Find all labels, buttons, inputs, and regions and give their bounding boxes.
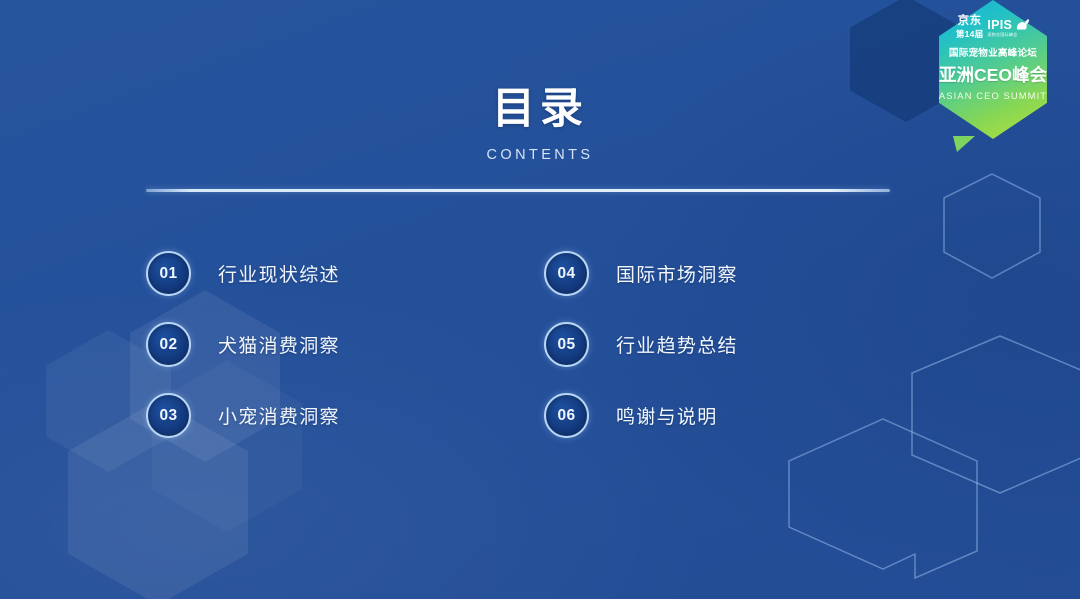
toc-item-02[interactable]: 02 犬猫消费洞察 — [146, 309, 506, 380]
toc-number-badge: 06 — [544, 393, 589, 438]
toc-number-badge: 05 — [544, 322, 589, 367]
toc-label: 鸣谢与说明 — [616, 402, 718, 429]
toc-item-01[interactable]: 01 行业现状综述 — [146, 238, 506, 309]
toc-number: 01 — [159, 265, 177, 283]
logo-summit-name-en: ASIAN CEO SUMMIT — [939, 90, 1047, 101]
slide-canvas: 目录 CONTENTS 01 行业现状综述 04 国际市场洞察 02 犬猫消费洞… — [0, 0, 1080, 599]
toc-number-badge: 03 — [146, 393, 191, 438]
decorative-hexagon-outline-icon — [932, 168, 1052, 288]
slide-header: 目录 CONTENTS — [0, 86, 1080, 163]
toc-item-04[interactable]: 04 国际市场洞察 — [530, 238, 890, 309]
toc-number-badge: 04 — [544, 251, 589, 296]
toc-label: 犬猫消费洞察 — [218, 331, 340, 358]
toc-label: 国际市场洞察 — [616, 260, 738, 287]
logo-edition: 第14届 — [956, 30, 984, 39]
toc-item-06[interactable]: 06 鸣谢与说明 — [530, 380, 890, 451]
toc-number-badge: 01 — [146, 251, 191, 296]
pet-silhouette-icon — [1014, 16, 1030, 31]
toc-number: 06 — [557, 407, 575, 425]
logo-content: 京东 第14届 IPIS 宠物业国际峰会 国际宠物业高峰论坛 亚洲CEO峰会 — [939, 0, 1047, 139]
page-subtitle: CONTENTS — [0, 147, 1080, 163]
toc-label: 小宠消费洞察 — [218, 402, 340, 429]
toc-label: 行业趋势总结 — [616, 331, 738, 358]
logo-forum-name: 国际宠物业高峰论坛 — [949, 45, 1037, 59]
logo-org-tagline: 宠物业国际峰会 — [987, 33, 1017, 37]
toc-number: 05 — [557, 336, 575, 354]
toc-number: 02 — [159, 336, 177, 354]
logo-brand-block: 京东 第14届 — [956, 16, 984, 38]
toc-item-03[interactable]: 03 小宠消费洞察 — [146, 380, 506, 451]
logo-brand: 京东 — [958, 16, 982, 28]
page-title: 目录 — [0, 86, 1080, 133]
event-logo: 京东 第14届 IPIS 宠物业国际峰会 国际宠物业高峰论坛 亚洲CEO峰会 — [939, 0, 1047, 139]
toc-number: 03 — [159, 407, 177, 425]
logo-org: IPIS — [987, 19, 1012, 32]
logo-top-row: 京东 第14届 IPIS 宠物业国际峰会 — [956, 16, 1030, 38]
header-divider — [146, 189, 890, 192]
table-of-contents: 01 行业现状综述 04 国际市场洞察 02 犬猫消费洞察 05 行业趋势总结 — [146, 238, 890, 451]
toc-number-badge: 02 — [146, 322, 191, 367]
toc-label: 行业现状综述 — [218, 260, 340, 287]
logo-org-row: IPIS — [987, 16, 1030, 31]
logo-summit-name: 亚洲CEO峰会 — [939, 62, 1047, 87]
toc-number: 04 — [557, 265, 575, 283]
logo-org-block: IPIS 宠物业国际峰会 — [987, 16, 1030, 37]
toc-item-05[interactable]: 05 行业趋势总结 — [530, 309, 890, 380]
